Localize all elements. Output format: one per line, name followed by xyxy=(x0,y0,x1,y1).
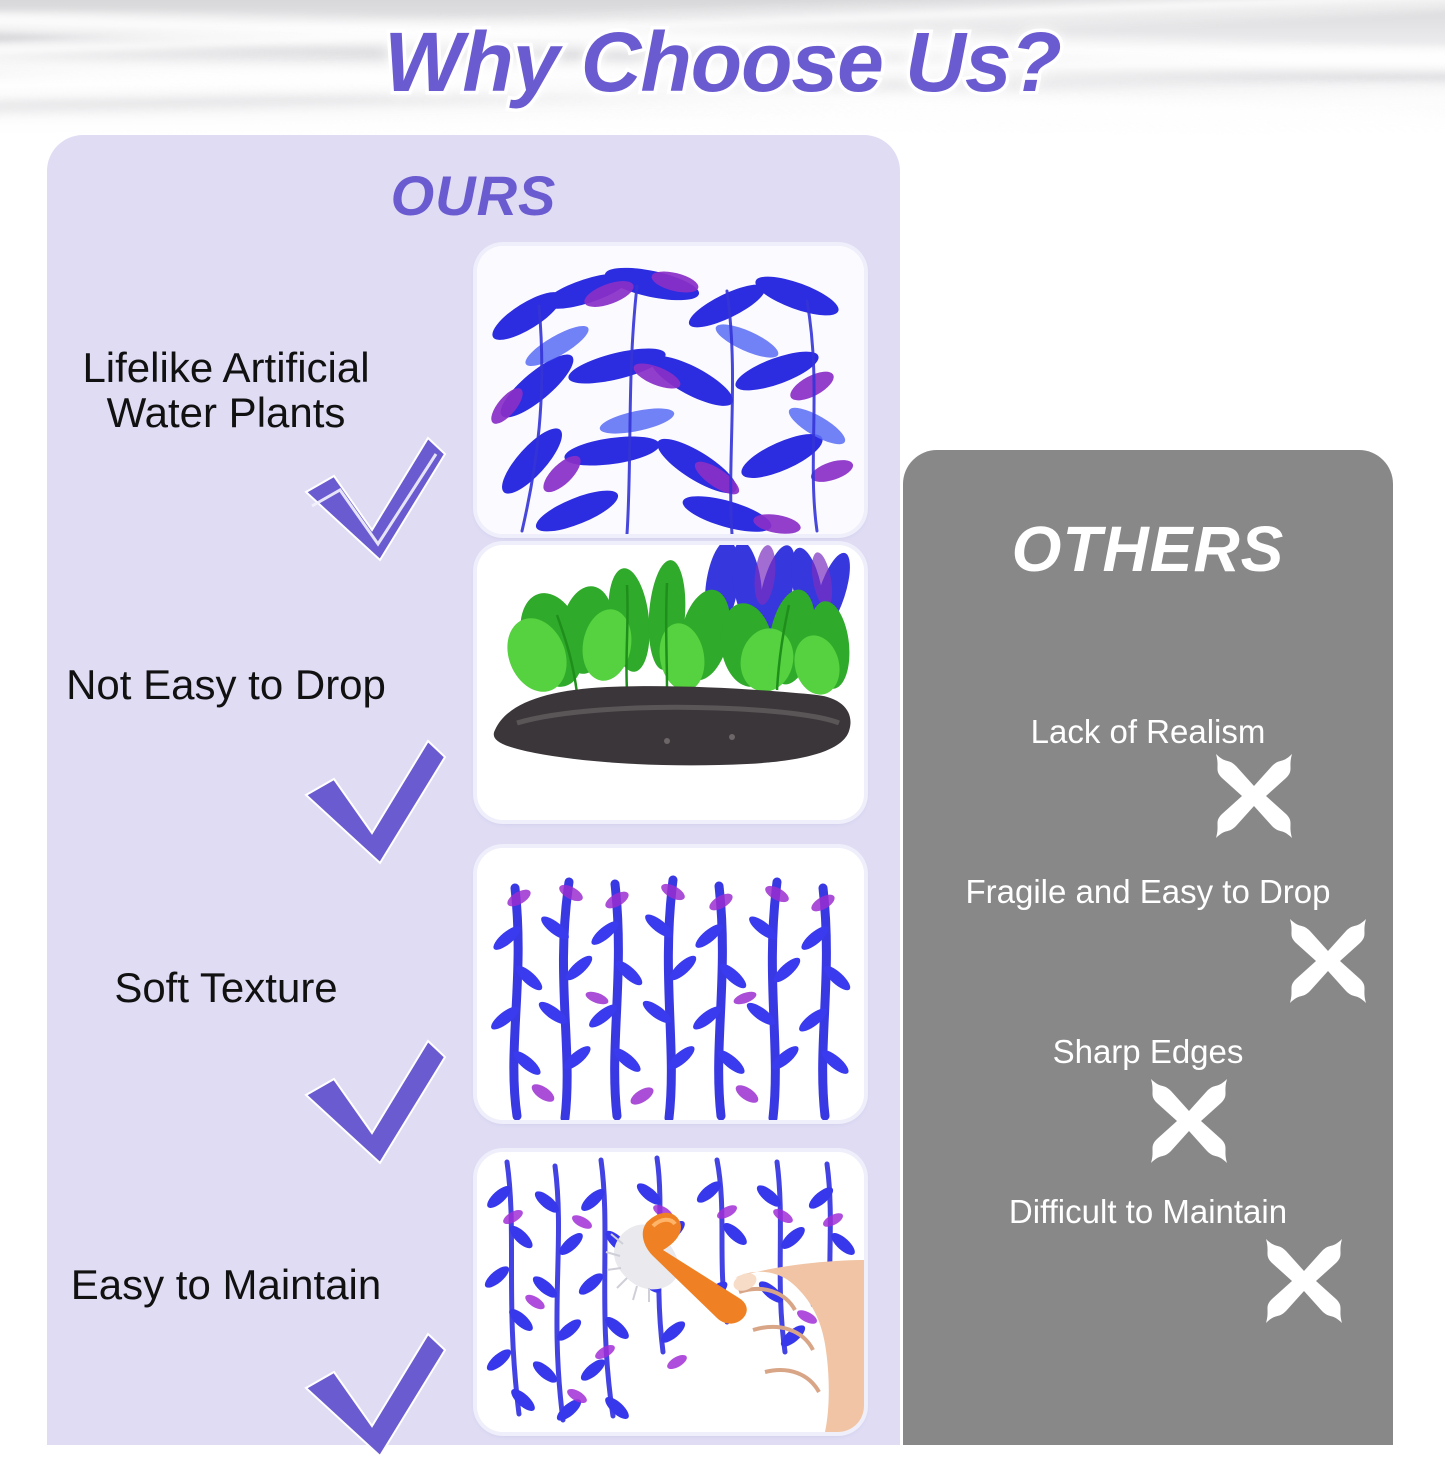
feature-image-not-easy-to-drop xyxy=(477,545,864,820)
check-mark-icon xyxy=(300,432,450,567)
x-mark-icon xyxy=(1143,1073,1235,1165)
others-heading: OTHERS xyxy=(903,512,1393,586)
feature-label-lifelike: Lifelike Artificial Water Plants xyxy=(26,345,426,436)
feature-image-easy-to-maintain xyxy=(477,1152,864,1432)
feature-label-not-easy-to-drop: Not Easy to Drop xyxy=(26,662,426,707)
feature-label-easy-to-maintain: Easy to Maintain xyxy=(26,1262,426,1307)
x-mark-icon xyxy=(1258,1233,1350,1325)
feature-image-lifelike xyxy=(477,246,864,534)
check-mark-icon xyxy=(300,1328,450,1463)
feature-label-soft-texture: Soft Texture xyxy=(26,965,426,1010)
drawback-label-sharp-edges: Sharp Edges xyxy=(903,1033,1393,1071)
check-mark-icon xyxy=(300,735,450,870)
x-mark-icon xyxy=(1282,913,1374,1005)
drawback-label-fragile-and-easy-to-drop: Fragile and Easy to Drop xyxy=(903,873,1393,911)
page-title: Why Choose Us? xyxy=(0,14,1445,111)
drawback-label-lack-of-realism: Lack of Realism xyxy=(903,713,1393,751)
feature-image-soft-texture xyxy=(477,848,864,1120)
x-mark-icon xyxy=(1208,748,1300,840)
ours-heading: OURS xyxy=(47,163,900,228)
check-mark-icon xyxy=(300,1035,450,1170)
drawback-label-difficult-to-maintain: Difficult to Maintain xyxy=(903,1193,1393,1231)
